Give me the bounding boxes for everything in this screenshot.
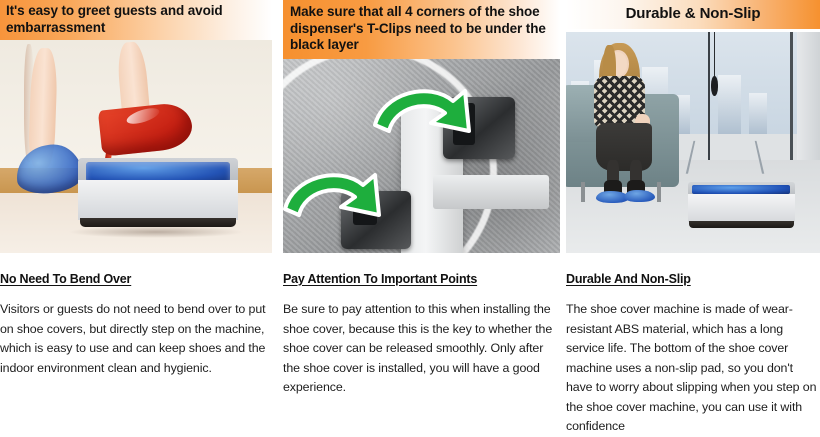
feature-image-durable: Durable & Non-Slip bbox=[566, 0, 820, 253]
blue-cover-tray bbox=[692, 185, 790, 194]
dark-trousers bbox=[596, 123, 652, 172]
photo-step-on-dispenser bbox=[0, 40, 272, 253]
tripod-stand bbox=[686, 141, 765, 174]
non-slip-base bbox=[689, 221, 794, 228]
caption-title-important-points: Pay Attention To Important Points bbox=[283, 272, 560, 286]
caption-body-durable: The shoe cover machine is made of wear-r… bbox=[566, 300, 820, 437]
green-arrow-upper-icon bbox=[369, 79, 477, 149]
sofa-leg bbox=[657, 182, 661, 202]
feature-image-no-bend: It's easy to greet guests and avoid emba… bbox=[0, 0, 272, 253]
building bbox=[718, 75, 741, 134]
shoe-cover-dispenser bbox=[78, 158, 238, 230]
photo-t-clip-closeup bbox=[283, 55, 560, 253]
blue-shoe-cover bbox=[624, 190, 654, 202]
window-mullion bbox=[790, 32, 793, 160]
caption-durable: Durable And Non-Slip The shoe cover mach… bbox=[566, 272, 820, 437]
machine-body bbox=[688, 194, 795, 222]
banner-durable: Durable & Non-Slip bbox=[566, 0, 820, 29]
feature-grid: It's easy to greet guests and avoid emba… bbox=[0, 0, 820, 420]
feature-column-durable: Durable & Non-Slip Durable And Non-Slip … bbox=[566, 0, 820, 437]
caption-body-no-bend: Visitors or guests do not need to bend o… bbox=[0, 300, 272, 378]
lamp-cord bbox=[714, 32, 715, 81]
building bbox=[749, 93, 767, 134]
dispenser-body bbox=[78, 180, 238, 220]
shoe-cover-machine bbox=[688, 182, 795, 231]
caption-body-important-points: Be sure to pay attention to this when in… bbox=[283, 300, 560, 398]
feature-column-important-points: Make sure that all 4 corners of the shoe… bbox=[283, 0, 560, 398]
feature-image-important-points: Make sure that all 4 corners of the shoe… bbox=[283, 0, 560, 253]
photo-woman-on-sofa bbox=[566, 32, 820, 253]
banner-important-points: Make sure that all 4 corners of the shoe… bbox=[283, 0, 560, 59]
caption-title-no-bend: No Need To Bend Over bbox=[0, 272, 272, 286]
caption-title-durable: Durable And Non-Slip bbox=[566, 272, 820, 286]
white-plastic-arm bbox=[433, 175, 549, 209]
blue-cover-tray bbox=[86, 162, 230, 182]
caption-important-points: Pay Attention To Important Points Be sur… bbox=[283, 272, 560, 398]
banner-no-bend: It's easy to greet guests and avoid emba… bbox=[0, 0, 272, 40]
caption-no-bend: No Need To Bend Over Visitors or guests … bbox=[0, 272, 272, 378]
dispenser-base bbox=[80, 218, 236, 227]
sofa-leg bbox=[581, 182, 585, 202]
feature-column-no-bend: It's easy to greet guests and avoid emba… bbox=[0, 0, 272, 378]
green-arrow-lower-icon bbox=[283, 163, 387, 233]
curtain bbox=[797, 32, 820, 173]
